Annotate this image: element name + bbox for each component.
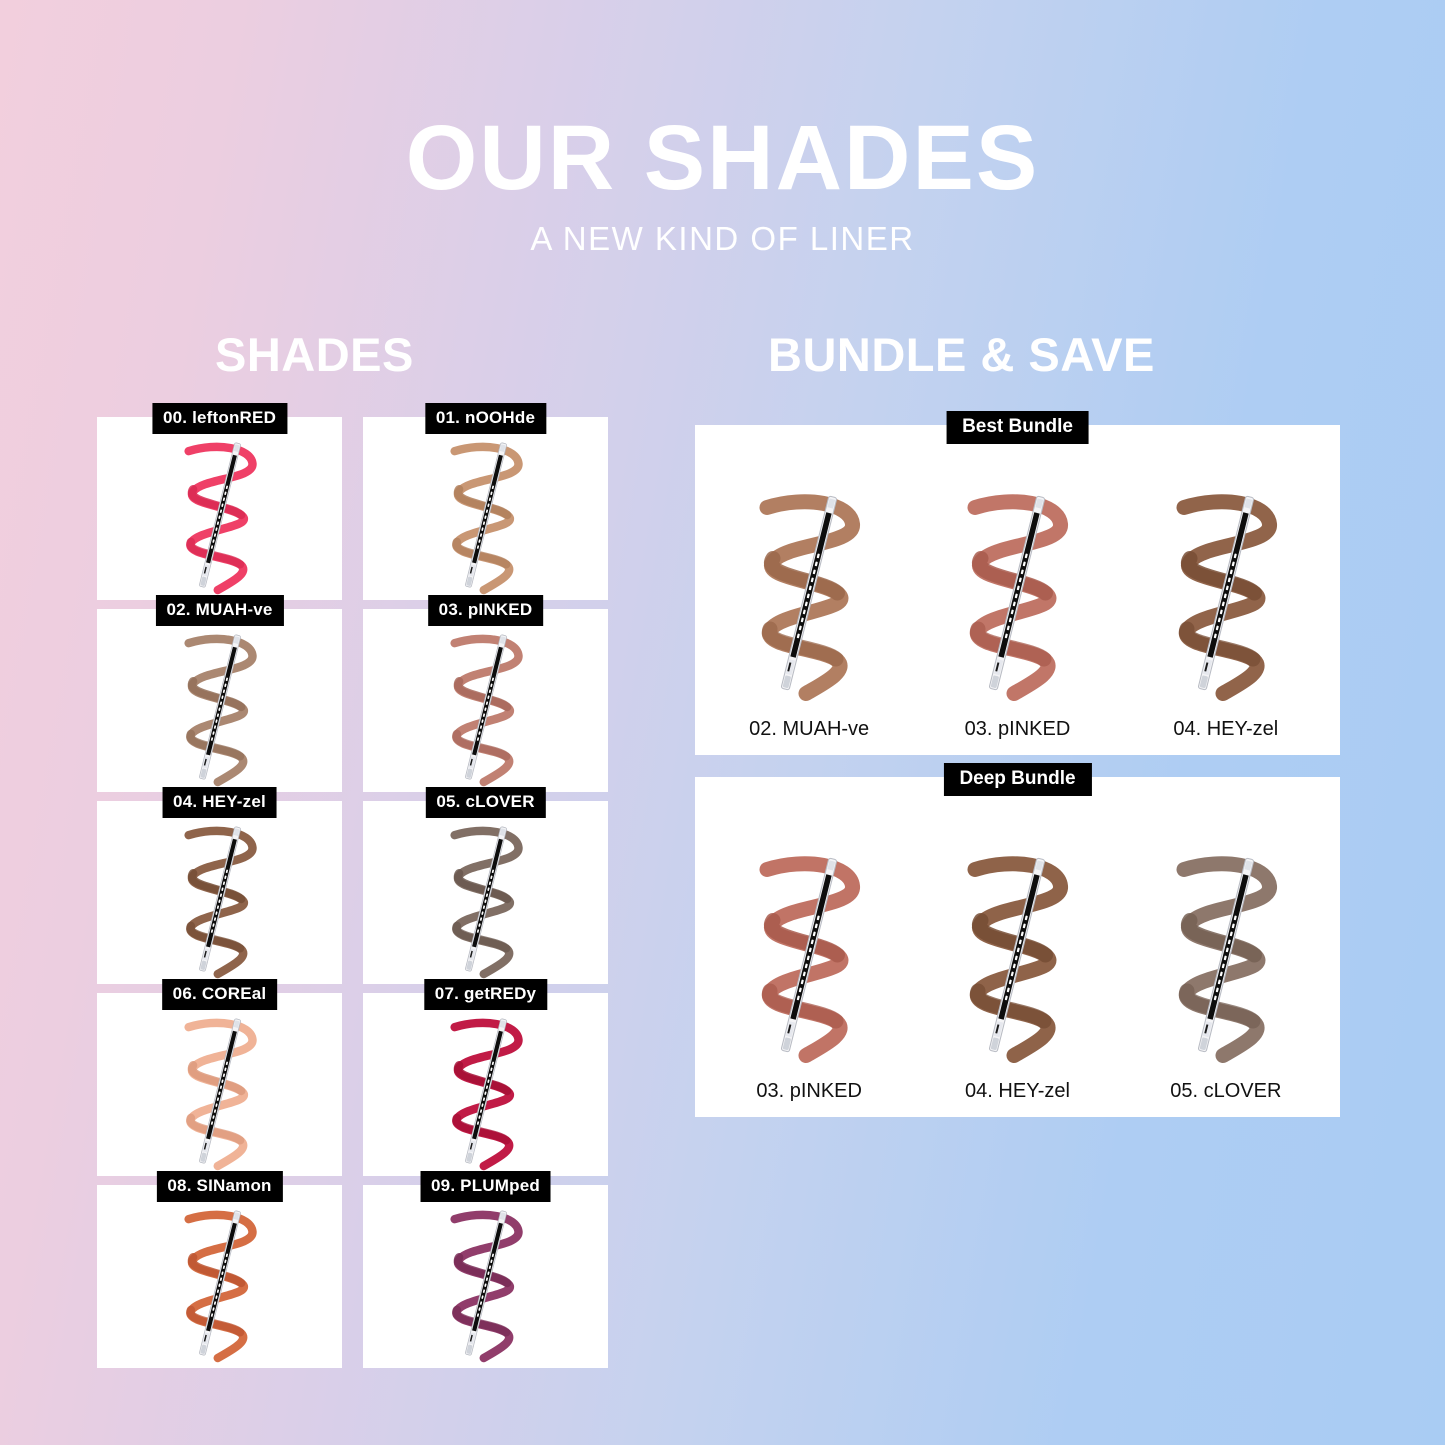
bundle-item-label: 05. cLOVER xyxy=(1170,1080,1281,1103)
shade-swatch-graphic xyxy=(430,431,542,599)
shade-swatch xyxy=(363,417,608,600)
shade-name-tag: 04. HEY-zel xyxy=(162,787,277,818)
bundle-item-label: 04. HEY-zel xyxy=(965,1080,1070,1103)
bundle-item-label: 04. HEY-zel xyxy=(1173,718,1278,741)
bundle-item-label: 03. pINKED xyxy=(756,1080,862,1103)
bundle-name-tag: Deep Bundle xyxy=(943,763,1091,796)
shade-card[interactable]: 04. HEY-zel xyxy=(97,801,342,984)
shade-swatch-graphic xyxy=(1151,480,1301,706)
bundle-item[interactable]: 05. cLOVER xyxy=(1151,837,1301,1103)
shade-card[interactable]: 03. pINKED xyxy=(363,609,608,792)
bundle-swatch xyxy=(1151,475,1301,711)
bundle-item[interactable]: 03. pINKED xyxy=(734,837,884,1103)
bundle-swatch xyxy=(942,475,1092,711)
shades-grid: 00. leftonRED 01. nOOHde xyxy=(97,417,617,1377)
shade-name-tag: 02. MUAH-ve xyxy=(155,595,283,626)
shade-name-tag: 01. nOOHde xyxy=(425,403,546,434)
bundle-section-heading: BUNDLE & SAVE xyxy=(768,327,1155,382)
shade-swatch-graphic xyxy=(430,623,542,791)
shade-row: 06. COREal 07. getREDy xyxy=(97,993,617,1176)
shade-row: 04. HEY-zel 05. cLOVER xyxy=(97,801,617,984)
shade-swatch xyxy=(97,609,342,792)
shade-card[interactable]: 00. leftonRED xyxy=(97,417,342,600)
shade-swatch-graphic xyxy=(430,815,542,983)
shade-swatch xyxy=(363,609,608,792)
shade-swatch xyxy=(97,417,342,600)
shades-section-heading: SHADES xyxy=(215,327,414,382)
bundle-item[interactable]: 03. pINKED xyxy=(942,475,1092,741)
shade-swatch xyxy=(363,1185,608,1368)
shade-name-tag: 09. PLUMped xyxy=(420,1171,551,1202)
shade-swatch xyxy=(97,993,342,1176)
shade-swatch xyxy=(97,1185,342,1368)
page-title: OUR SHADES xyxy=(0,112,1445,204)
bundle-item-label: 03. pINKED xyxy=(965,718,1071,741)
bundle-item-list: 02. MUAH-ve 03. pINKED xyxy=(695,425,1340,755)
shade-swatch-graphic xyxy=(942,480,1092,706)
bundle-swatch xyxy=(942,837,1092,1073)
shade-swatch-graphic xyxy=(164,623,276,791)
shade-name-tag: 07. getREDy xyxy=(424,979,547,1010)
bundle-swatch xyxy=(1151,837,1301,1073)
shade-name-tag: 03. pINKED xyxy=(428,595,544,626)
shade-swatch-graphic xyxy=(164,1007,276,1175)
bundle-card[interactable]: Best Bundle 02. MUAH-ve xyxy=(695,425,1340,755)
bundle-item-list: 03. pINKED 04. HEY-zel xyxy=(695,777,1340,1117)
shade-swatch-graphic xyxy=(1151,842,1301,1068)
shade-card[interactable]: 02. MUAH-ve xyxy=(97,609,342,792)
shade-card[interactable]: 06. COREal xyxy=(97,993,342,1176)
shade-swatch xyxy=(363,801,608,984)
bundle-item[interactable]: 02. MUAH-ve xyxy=(734,475,884,741)
bundle-name-tag: Best Bundle xyxy=(946,411,1089,444)
shade-card[interactable]: 08. SINamon xyxy=(97,1185,342,1368)
shade-card[interactable]: 01. nOOHde xyxy=(363,417,608,600)
shade-swatch-graphic xyxy=(942,842,1092,1068)
shade-swatch-graphic xyxy=(164,431,276,599)
shade-swatch-graphic xyxy=(164,1199,276,1367)
shade-swatch xyxy=(97,801,342,984)
shade-swatch-graphic xyxy=(734,842,884,1068)
shade-card[interactable]: 05. cLOVER xyxy=(363,801,608,984)
shade-card[interactable]: 09. PLUMped xyxy=(363,1185,608,1368)
bundle-swatch xyxy=(734,475,884,711)
shade-chart-page: OUR SHADES A NEW KIND OF LINER SHADES BU… xyxy=(0,0,1445,1445)
bundle-swatch xyxy=(734,837,884,1073)
shade-swatch-graphic xyxy=(430,1199,542,1367)
shade-name-tag: 05. cLOVER xyxy=(425,787,545,818)
shade-name-tag: 00. leftonRED xyxy=(152,403,287,434)
bundle-item[interactable]: 04. HEY-zel xyxy=(942,837,1092,1103)
shade-swatch-graphic xyxy=(734,480,884,706)
bundle-item-label: 02. MUAH-ve xyxy=(749,718,869,741)
shade-row: 00. leftonRED 01. nOOHde xyxy=(97,417,617,600)
shade-swatch xyxy=(363,993,608,1176)
shade-card[interactable]: 07. getREDy xyxy=(363,993,608,1176)
shade-row: 02. MUAH-ve 03. pINKED xyxy=(97,609,617,792)
shade-swatch-graphic xyxy=(164,815,276,983)
shade-swatch-graphic xyxy=(430,1007,542,1175)
shade-name-tag: 08. SINamon xyxy=(156,1171,282,1202)
page-header: OUR SHADES A NEW KIND OF LINER xyxy=(0,112,1445,258)
shade-name-tag: 06. COREal xyxy=(162,979,278,1010)
bundle-card[interactable]: Deep Bundle 03. pINKED xyxy=(695,777,1340,1117)
bundle-item[interactable]: 04. HEY-zel xyxy=(1151,475,1301,741)
shade-row: 08. SINamon 09. PLUMped xyxy=(97,1185,617,1368)
page-subtitle: A NEW KIND OF LINER xyxy=(0,220,1445,258)
